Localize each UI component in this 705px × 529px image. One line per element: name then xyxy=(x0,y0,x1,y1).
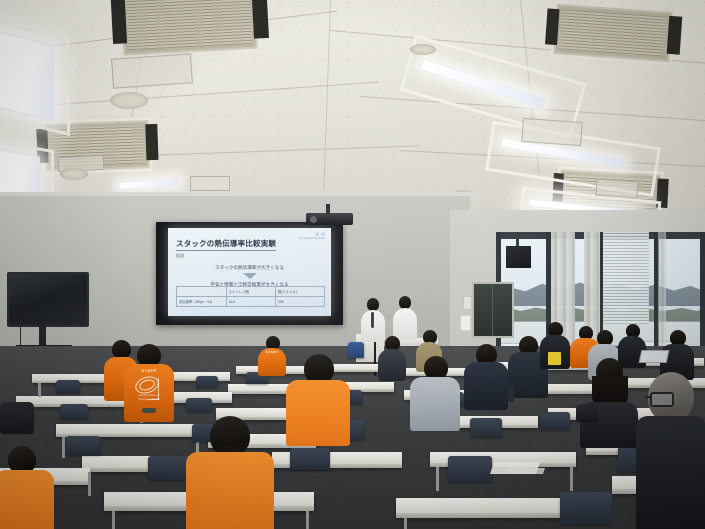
staff-jacket-text: STAFF xyxy=(258,350,286,354)
person-torso-staff-jacket: STAFF National Institute of Technology, … xyxy=(124,364,174,422)
wall-notice xyxy=(460,315,471,331)
table-row: 熱伝導率〔W/(m・K)〕 16.0 398 xyxy=(177,297,325,307)
eyeglasses-temple xyxy=(645,396,651,398)
slide-surface: スタックの熱伝導率比較実験 仮説 第 7 回 Presented by Team… xyxy=(168,228,331,316)
table-cell: 398 xyxy=(275,297,324,307)
eyeglasses-icon xyxy=(650,392,674,407)
slide-corner-line-2: Presented by Team xyxy=(299,237,325,241)
slide-subtitle: 仮説 xyxy=(176,253,323,259)
table-cell: 熱伝導率〔W/(m・K)〕 xyxy=(177,297,227,307)
person-torso xyxy=(186,452,274,529)
ceiling-light-frame xyxy=(0,18,70,136)
desk-leg xyxy=(112,511,115,529)
ceiling-access-panel xyxy=(190,176,230,191)
window-mullion xyxy=(700,232,705,360)
chair[interactable] xyxy=(448,456,492,482)
down-arrow-icon xyxy=(243,273,257,279)
classroom-door[interactable] xyxy=(472,282,514,338)
person-torso xyxy=(464,362,508,410)
ceiling-speaker-icon xyxy=(410,44,436,55)
desk-leg xyxy=(436,467,439,491)
water-bottle[interactable] xyxy=(508,386,514,402)
audience-member xyxy=(580,358,638,444)
desk-leg xyxy=(306,511,309,529)
person-torso: STAFF xyxy=(258,348,286,376)
chair[interactable] xyxy=(540,412,570,430)
lecture-hall-photo: スタックの熱伝導率比較実験 仮説 第 7 回 Presented by Team… xyxy=(0,0,705,529)
cap-on-desk[interactable] xyxy=(142,408,156,413)
wall-monitor xyxy=(7,272,89,327)
ceiling-access-panel xyxy=(111,53,193,89)
desk-leg xyxy=(404,518,407,529)
yellow-box[interactable] xyxy=(548,352,561,365)
person-torso xyxy=(410,377,460,431)
person-torso xyxy=(286,380,350,446)
slide-table: ステンレス鋼 銅(エナメル) 熱伝導率〔W/(m・K)〕 16.0 398 xyxy=(176,286,325,307)
desk-leg xyxy=(62,437,65,458)
presenter-tie xyxy=(371,312,374,328)
desk-leg xyxy=(88,472,91,496)
chair[interactable] xyxy=(66,436,100,455)
chair[interactable] xyxy=(470,418,502,437)
projection-screen: スタックの熱伝導率比較実験 仮説 第 7 回 Presented by Team… xyxy=(156,222,343,325)
chair[interactable] xyxy=(186,398,212,412)
desk-leg xyxy=(570,467,573,491)
chair[interactable] xyxy=(196,376,218,388)
staff-jacket-subtext: Technology, XXXXX xyxy=(124,398,174,401)
staff-jacket-text: STAFF xyxy=(124,368,174,373)
bag[interactable] xyxy=(576,404,598,422)
slide-corner-note: 第 7 回 Presented by Team xyxy=(299,233,325,241)
person-torso xyxy=(636,416,705,529)
table-cell: 16.0 xyxy=(226,297,275,307)
staff-jacket-subtext: National Institute of xyxy=(124,394,174,397)
light-switch[interactable] xyxy=(463,296,472,310)
chair[interactable] xyxy=(560,492,612,524)
backpack[interactable] xyxy=(0,402,34,434)
ac-vent xyxy=(553,4,672,62)
ceiling-speaker-icon xyxy=(60,168,88,180)
table-header-cell: ステンレス鋼 xyxy=(226,287,275,297)
ceiling-projector xyxy=(306,213,353,225)
laptop[interactable] xyxy=(639,350,670,363)
ceiling-speaker-icon xyxy=(110,92,148,109)
table-header-row: ステンレス鋼 銅(エナメル) xyxy=(177,287,325,297)
audience-member xyxy=(464,344,508,406)
person-torso xyxy=(378,349,406,381)
audience-member-orange xyxy=(0,446,54,529)
wall-speaker-icon xyxy=(506,246,531,268)
ceiling-access-panel xyxy=(595,179,638,199)
ac-vent xyxy=(120,0,257,55)
table-header-cell: 銅(エナメル) xyxy=(275,287,324,297)
slide-statement-1: スタックの熱伝導率が大きくなる xyxy=(176,265,323,271)
desk-leg xyxy=(38,383,41,397)
chair[interactable] xyxy=(290,448,330,470)
audience-member-staff: STAFF xyxy=(258,336,286,374)
table-header-cell xyxy=(177,287,227,297)
audience-member-foreground xyxy=(636,372,705,529)
ceiling-access-panel xyxy=(521,118,583,146)
chair[interactable] xyxy=(56,380,80,393)
audience-member-ponytail xyxy=(186,416,274,529)
slide-title: スタックの熱伝導率比較実験 xyxy=(176,238,276,251)
presentation-slide: スタックの熱伝導率比較実験 仮説 第 7 回 Presented by Team… xyxy=(168,228,331,316)
paper-sheet[interactable] xyxy=(507,468,545,474)
chair[interactable] xyxy=(148,456,190,480)
audience-member-orange xyxy=(286,354,350,450)
audience-member xyxy=(378,336,406,378)
chair[interactable] xyxy=(60,404,88,419)
audience-member xyxy=(410,356,460,426)
person-torso xyxy=(0,470,54,529)
window-blind[interactable] xyxy=(603,232,649,324)
